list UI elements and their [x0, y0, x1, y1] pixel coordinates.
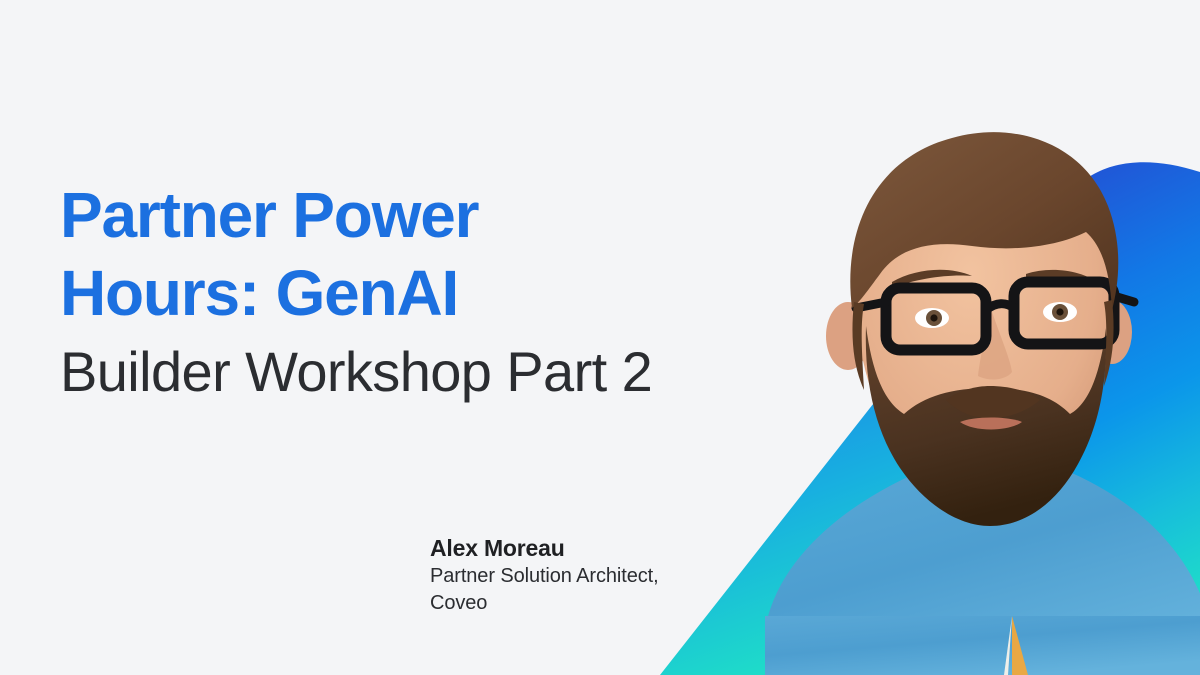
title-line-2: Hours: GenAI [60, 254, 860, 332]
title-slide: Partner Power Hours: GenAI Builder Works… [0, 0, 1200, 675]
pupil-left [930, 314, 937, 321]
title-block: Partner Power Hours: GenAI Builder Works… [60, 176, 860, 406]
speaker-role-line-1: Partner Solution Architect, [430, 563, 730, 590]
speaker-name: Alex Moreau [430, 533, 730, 563]
speaker-block: Alex Moreau Partner Solution Architect, … [430, 533, 730, 617]
title-subtitle: Builder Workshop Part 2 [60, 338, 860, 406]
speaker-role-line-2: Coveo [430, 590, 730, 617]
pupil-right [1056, 308, 1063, 315]
title-line-1: Partner Power [60, 176, 860, 254]
shirt-lower [765, 616, 1200, 675]
